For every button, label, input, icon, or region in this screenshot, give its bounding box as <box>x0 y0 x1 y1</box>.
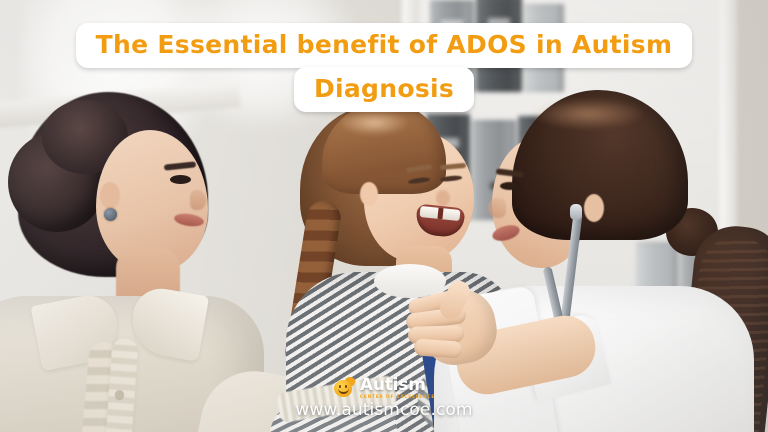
logo-text: Autism CENTER OF EXCELLENCE <box>360 377 435 399</box>
parent-nose <box>190 190 206 210</box>
doctor-ear <box>584 194 604 222</box>
website-url[interactable]: www.autismcoe.com <box>295 400 472 420</box>
child-hair-highlight <box>338 110 410 136</box>
parent-earring <box>104 208 117 221</box>
doctor-nose <box>488 198 506 218</box>
stethoscope-earpiece <box>570 204 582 220</box>
child-nose <box>436 190 450 206</box>
parent-ear <box>100 182 120 209</box>
title-line-1: The Essential benefit of ADOS in Autism <box>76 23 693 68</box>
smiley-face-icon <box>333 378 355 398</box>
doctor-eye <box>500 182 520 190</box>
child-ear <box>360 182 378 206</box>
logo-tagline: CENTER OF EXCELLENCE <box>360 395 435 399</box>
doctor-finger <box>413 338 462 358</box>
title-line-2: Diagnosis <box>294 67 474 112</box>
logo-name: Autism <box>360 377 426 394</box>
banner-title: The Essential benefit of ADOS in Autism … <box>0 0 768 112</box>
brand-block: Autism CENTER OF EXCELLENCE www.autismco… <box>0 377 768 420</box>
parent-eye <box>170 175 191 184</box>
logo[interactable]: Autism CENTER OF EXCELLENCE <box>333 377 435 399</box>
